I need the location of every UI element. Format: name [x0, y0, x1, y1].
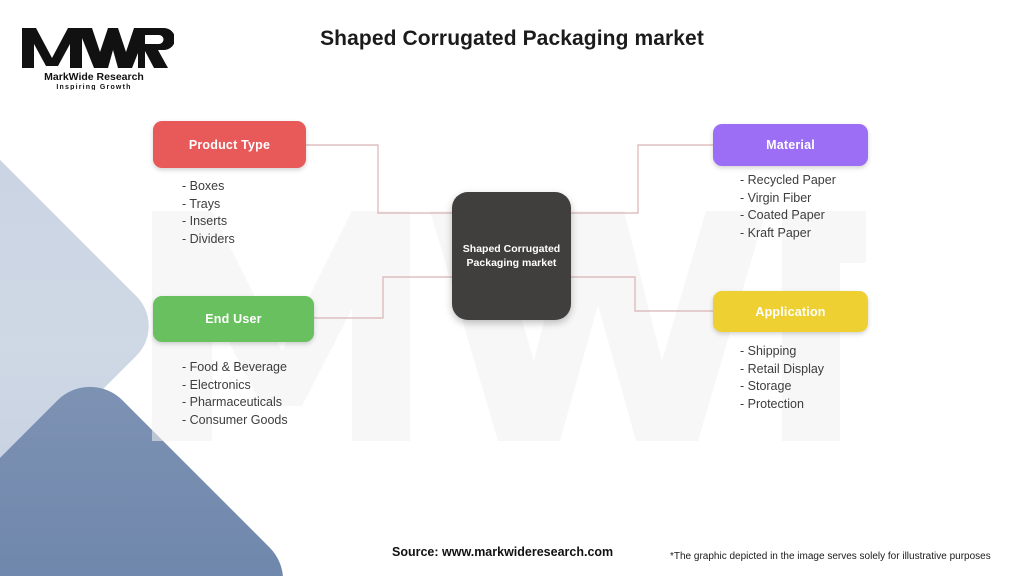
node-material[interactable]: Material — [713, 124, 868, 166]
center-node-line2: Packaging market — [467, 257, 557, 269]
list-product-type: - Boxes - Trays - Inserts - Dividers — [182, 178, 235, 248]
list-end-user: - Food & Beverage - Electronics - Pharma… — [182, 359, 288, 429]
connector-material — [571, 145, 713, 213]
list-item: - Trays — [182, 196, 235, 214]
infographic-canvas: MarkWide Research Inspiring Growth Shape… — [0, 0, 1024, 576]
list-item: - Protection — [740, 396, 824, 414]
list-item: - Retail Display — [740, 361, 824, 379]
list-item: - Boxes — [182, 178, 235, 196]
list-item: - Virgin Fiber — [740, 190, 836, 208]
node-end-user-label: End User — [205, 312, 261, 326]
list-application: - Shipping - Retail Display - Storage - … — [740, 343, 824, 413]
list-item: - Food & Beverage — [182, 359, 288, 377]
source-text: Source: www.markwideresearch.com — [392, 545, 613, 559]
disclaimer-text: *The graphic depicted in the image serve… — [670, 551, 991, 562]
list-material: - Recycled Paper - Virgin Fiber - Coated… — [740, 172, 836, 242]
list-item: - Electronics — [182, 377, 288, 395]
list-item: - Dividers — [182, 231, 235, 249]
node-material-label: Material — [766, 138, 815, 152]
list-item: - Inserts — [182, 213, 235, 231]
connector-application — [571, 277, 713, 311]
connector-product-type — [306, 145, 452, 213]
node-application[interactable]: Application — [713, 291, 868, 332]
connector-end-user — [314, 277, 452, 318]
node-product-type[interactable]: Product Type — [153, 121, 306, 168]
node-product-type-label: Product Type — [189, 138, 270, 152]
center-node-line1: Shaped Corrugated — [463, 243, 560, 255]
list-item: - Shipping — [740, 343, 824, 361]
list-item: - Coated Paper — [740, 207, 836, 225]
list-item: - Kraft Paper — [740, 225, 836, 243]
center-node-label: Shaped Corrugated Packaging market — [455, 242, 568, 270]
list-item: - Pharmaceuticals — [182, 394, 288, 412]
node-end-user[interactable]: End User — [153, 296, 314, 342]
list-item: - Consumer Goods — [182, 412, 288, 430]
list-item: - Recycled Paper — [740, 172, 836, 190]
node-application-label: Application — [755, 305, 825, 319]
center-node[interactable]: Shaped Corrugated Packaging market — [452, 192, 571, 320]
list-item: - Storage — [740, 378, 824, 396]
